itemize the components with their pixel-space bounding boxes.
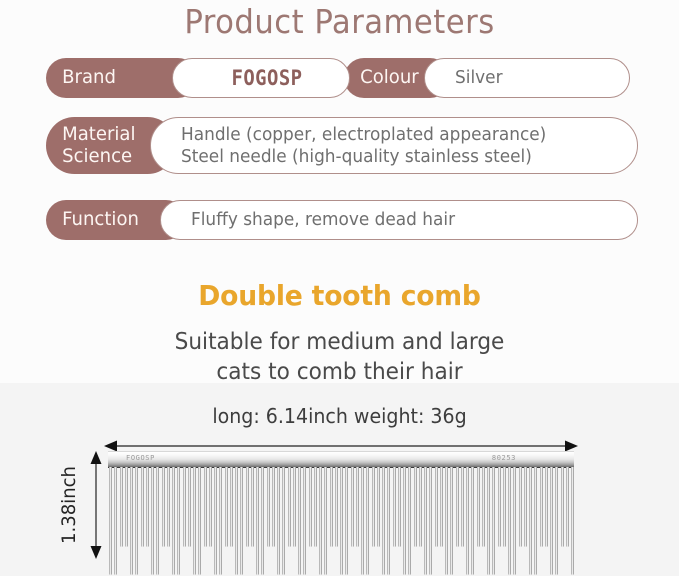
comb-tooth [282, 467, 285, 575]
spec-value-function-text: Fluffy shape, remove dead hair [191, 209, 593, 231]
comb-tooth [204, 467, 207, 547]
comb-tooth [366, 467, 369, 575]
comb-tooth [361, 467, 364, 575]
comb-tooth [177, 467, 180, 575]
comb-brand-engraving: FOGOSP [126, 454, 155, 462]
comb-product-image: FOGOSP 80253 [108, 451, 574, 576]
comb-tooth [377, 467, 380, 547]
comb-tooth [172, 467, 175, 575]
comb-tooth [188, 467, 191, 547]
height-measure-arrow-icon [89, 451, 103, 559]
dimension-height-label-text: 1.38inch [58, 456, 80, 555]
comb-tooth [193, 467, 196, 575]
comb-tooth [466, 467, 469, 575]
comb-tooth [372, 467, 375, 547]
comb-tooth [309, 467, 312, 547]
spec-row-material-science: Material Science Handle (copper, electro… [46, 117, 638, 174]
spec-row-function: Function Fluffy shape, remove dead hair [46, 200, 638, 240]
comb-tooth [141, 467, 144, 547]
comb-tooth [340, 467, 343, 575]
spec-row-brand: Brand FOGOSP [46, 58, 350, 98]
comb-tooth [408, 467, 411, 575]
comb-tooth [167, 467, 170, 547]
comb-tooth [114, 467, 117, 575]
comb-tooth [545, 467, 548, 547]
comb-tooth [450, 467, 453, 575]
comb-tooth [246, 467, 249, 547]
comb-tooth [235, 467, 238, 575]
comb-tooth [482, 467, 485, 547]
comb-tooth [498, 467, 501, 547]
page-title: Product Parameters [24, 2, 655, 41]
comb-tooth [471, 467, 474, 575]
comb-tooth [267, 467, 270, 547]
comb-tooth [345, 467, 348, 575]
comb-tooth [445, 467, 448, 575]
comb-tooth [555, 467, 558, 575]
comb-tooth [534, 467, 537, 575]
comb-tooth [324, 467, 327, 575]
spec-value-material-science: Handle (copper, electroplated appearance… [150, 117, 638, 174]
comb-tooth [382, 467, 385, 575]
dimension-length-weight-label: long: 6.14inch weight: 36g [17, 404, 662, 428]
spec-value-colour-text: Silver [455, 67, 602, 89]
spec-row-colour: Colour Silver [344, 58, 630, 98]
comb-tooth [456, 467, 459, 547]
comb-tooth [356, 467, 359, 547]
comb-tooth [330, 467, 333, 547]
comb-tooth [508, 467, 511, 575]
comb-tooth [503, 467, 506, 547]
spec-label-colour-text: Colour [344, 67, 432, 88]
comb-tooth [125, 467, 128, 547]
comb-tooth [393, 467, 396, 547]
product-photo-panel: long: 6.14inch weight: 36g 1.38inch FOGO… [0, 383, 679, 576]
comb-tooth [419, 467, 422, 547]
spec-value-brand: FOGOSP [172, 58, 350, 98]
comb-tooth [183, 467, 186, 547]
comb-handle-bar: FOGOSP 80253 [108, 451, 574, 468]
feature-subhead: Suitable for medium and large cats to co… [20, 327, 658, 388]
comb-tooth [461, 467, 464, 547]
comb-tooth [225, 467, 228, 547]
comb-tooth [566, 467, 569, 547]
comb-tooth [571, 467, 574, 575]
comb-tooth [162, 467, 165, 547]
comb-tooth [288, 467, 291, 547]
dimension-height-label: 1.38inch [58, 383, 80, 453]
comb-tooth [492, 467, 495, 575]
comb-tooth [120, 467, 123, 547]
comb-teeth [108, 467, 574, 576]
comb-tooth [435, 467, 438, 547]
spec-label-brand-text: Brand [46, 67, 129, 88]
comb-tooth [440, 467, 443, 547]
spec-value-material-line2: Steel needle (high-quality stainless ste… [181, 146, 593, 168]
comb-tooth [277, 467, 280, 575]
comb-tooth [151, 467, 154, 575]
comb-tooth [487, 467, 490, 575]
spec-label-function-text: Function [46, 209, 152, 230]
comb-tooth [319, 467, 322, 575]
comb-tooth [529, 467, 532, 575]
comb-tooth [251, 467, 254, 547]
comb-tooth [351, 467, 354, 547]
comb-tooth [513, 467, 516, 575]
comb-tooth [429, 467, 432, 575]
comb-tooth [293, 467, 296, 547]
spec-value-colour: Silver [424, 58, 630, 98]
comb-tooth [256, 467, 259, 575]
comb-tooth [240, 467, 243, 575]
comb-tooth [519, 467, 522, 547]
comb-tooth [198, 467, 201, 575]
comb-tooth [403, 467, 406, 575]
comb-tooth [130, 467, 133, 575]
comb-tooth [303, 467, 306, 575]
comb-tooth [524, 467, 527, 547]
comb-tooth [550, 467, 553, 575]
comb-tooth [314, 467, 317, 547]
comb-tooth [477, 467, 480, 547]
comb-tooth [414, 467, 417, 547]
product-infographic: Product Parameters Brand FOGOSP Colour S… [0, 0, 679, 576]
comb-tooth [540, 467, 543, 547]
comb-tooth [209, 467, 212, 547]
brand-logo-text: FOGOSP [209, 66, 324, 90]
comb-tooth [214, 467, 217, 575]
comb-tooth [219, 467, 222, 575]
comb-tooth [561, 467, 564, 547]
feature-headline: Double tooth comb [17, 279, 662, 312]
comb-tooth [261, 467, 264, 575]
comb-tooth [156, 467, 159, 575]
comb-tooth [398, 467, 401, 547]
feature-subhead-line1: Suitable for medium and large [20, 327, 658, 357]
spec-label-material-science-text: Material Science [46, 124, 149, 167]
comb-tooth [230, 467, 233, 547]
comb-model-engraving: 80253 [492, 454, 516, 462]
comb-tooth [272, 467, 275, 547]
comb-tooth [298, 467, 301, 575]
spec-value-material-line1: Handle (copper, electroplated appearance… [181, 124, 593, 146]
comb-tooth [387, 467, 390, 575]
comb-tooth [109, 467, 112, 575]
comb-tooth [424, 467, 427, 575]
comb-tooth [135, 467, 138, 575]
comb-tooth [146, 467, 149, 547]
spec-value-function: Fluffy shape, remove dead hair [160, 200, 638, 240]
comb-tooth [335, 467, 338, 547]
